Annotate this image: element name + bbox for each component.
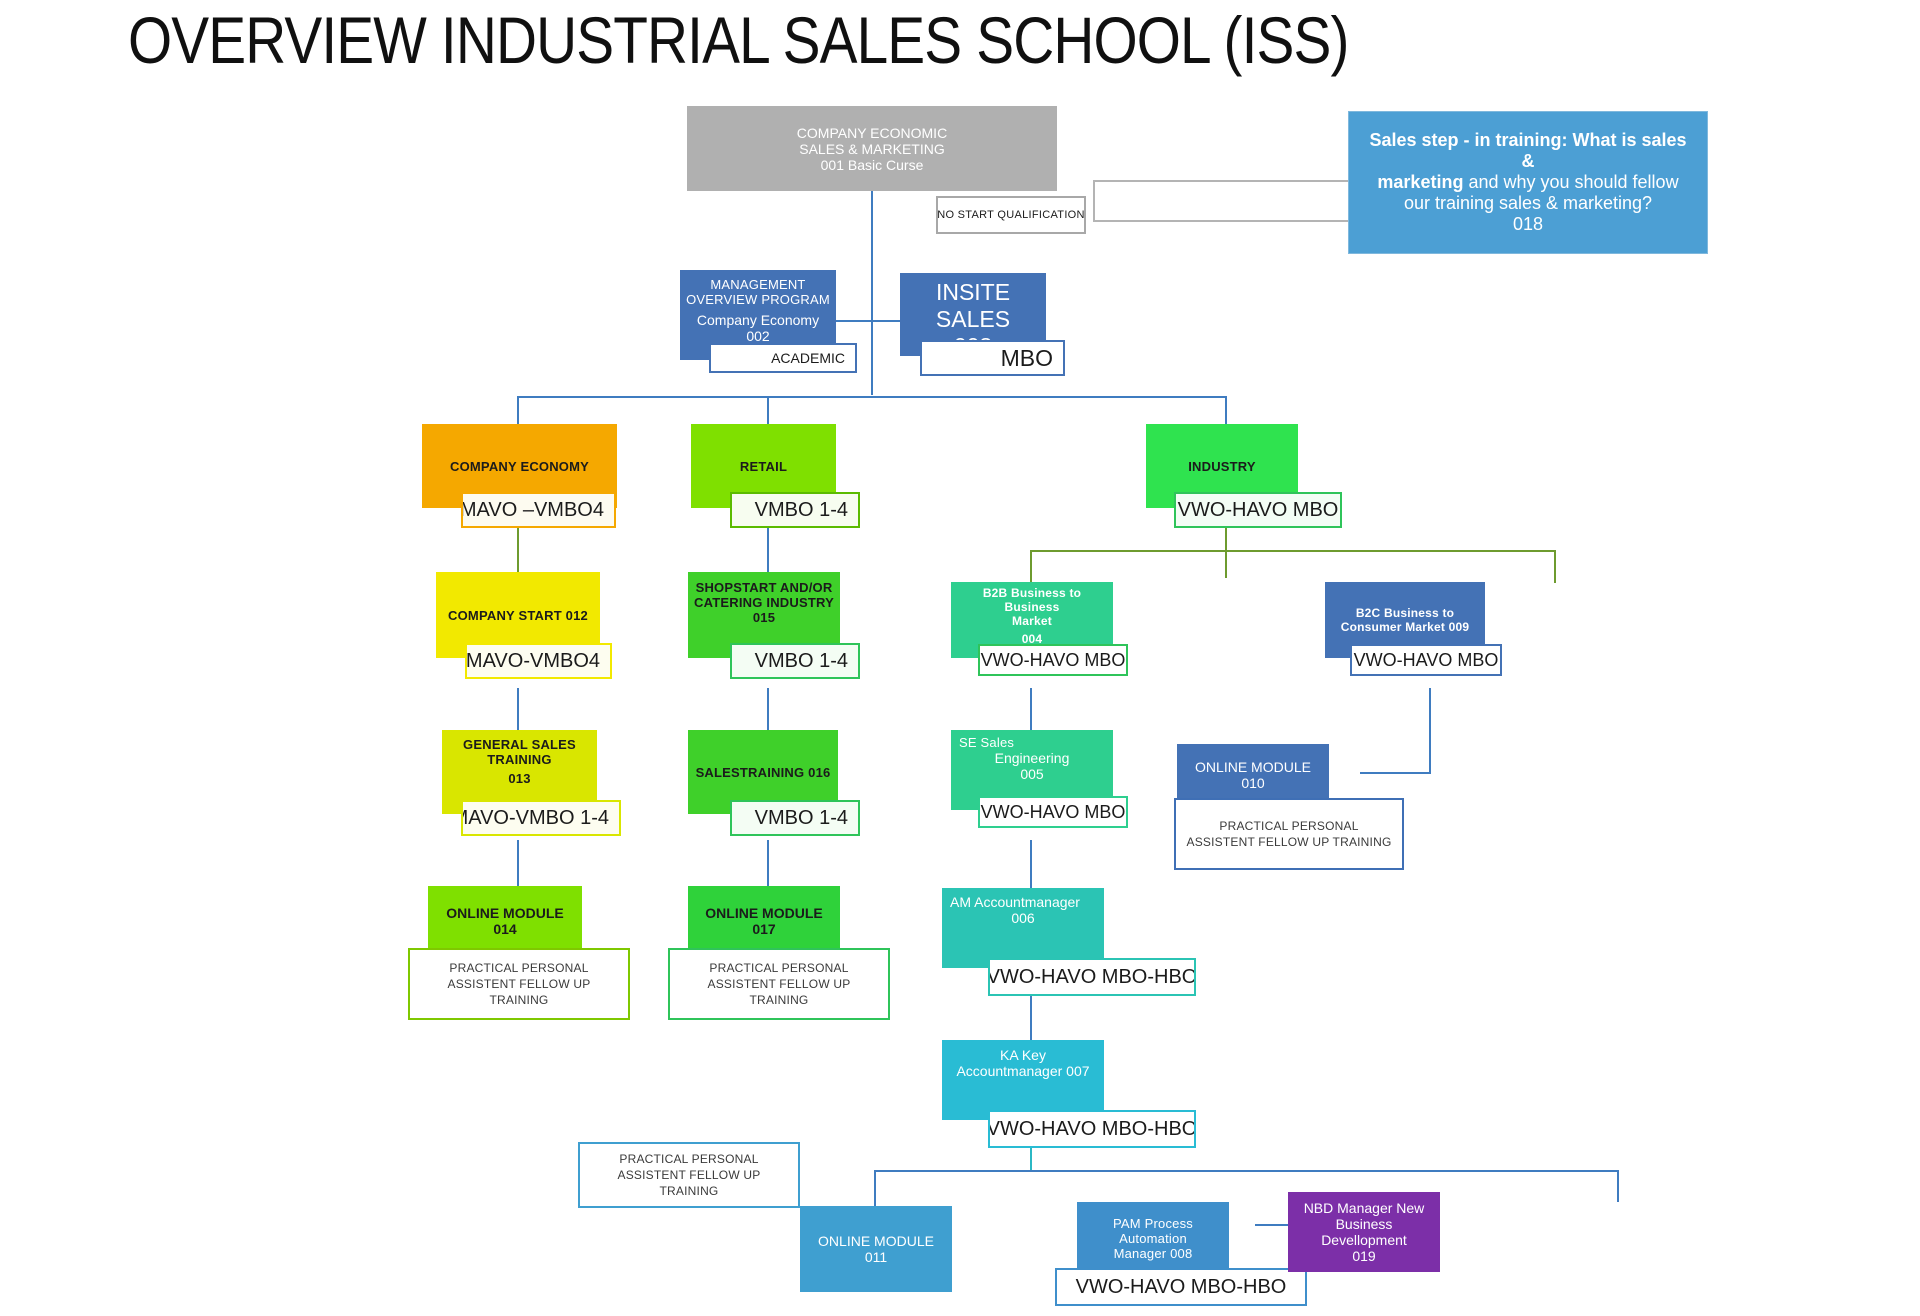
connector-bus-to-pam <box>1617 1170 1619 1202</box>
connector-level3-retail <box>767 396 769 424</box>
node-online-module-011[interactable]: ONLINE MODULE 011 <box>800 1206 952 1292</box>
connector-level3-company-economy <box>517 396 519 424</box>
insite-line1: INSITE SALES <box>906 279 1040 333</box>
connector-pam-to-nbd <box>1255 1224 1290 1226</box>
b2b-line1: B2B Business to Business <box>957 586 1107 614</box>
connector-level3-industry <box>1225 396 1227 424</box>
node-am-accountmanager[interactable]: AM Accountmanager 006 <box>942 888 1104 968</box>
caption-company-start[interactable]: MAVO-VMBO4 <box>465 643 612 679</box>
pam-line1: PAM Process Automation <box>1083 1216 1223 1246</box>
node-basic-curse-head: COMPANY ECONOMIC SALES & MARKETING 001 B… <box>687 106 1057 191</box>
caption-retail[interactable]: VMBO 1-4 <box>730 492 860 528</box>
connector-se-down <box>1030 840 1032 888</box>
caption-am-accountmanager[interactable]: VWO-HAVO MBO-HBO <box>988 958 1196 996</box>
connector-industry-down <box>1225 528 1227 578</box>
node-om014-head: ONLINE MODULE 014 <box>428 886 582 956</box>
connector-bus-to-b2b <box>1030 550 1032 583</box>
gst-line3: 013 <box>448 771 591 786</box>
node-ka-accountmanager[interactable]: KA Key Accountmanager 007 <box>942 1040 1104 1120</box>
connector-bus-to-om011 <box>874 1170 876 1206</box>
caption-mbo[interactable]: MBO <box>920 340 1065 376</box>
se-line1: SE Sales <box>959 735 1105 750</box>
caption-ka-accountmanager[interactable]: VWO-HAVO MBO-HBO <box>988 1110 1196 1148</box>
node-am-head: AM Accountmanager 006 <box>942 888 1104 968</box>
om011-line1: ONLINE MODULE 011 <box>806 1233 946 1265</box>
connector-general-sales-down <box>517 840 519 886</box>
connector-b2c-to-om010 <box>1360 772 1430 774</box>
st-line1: SALESTRAINING 016 <box>694 765 832 780</box>
management-line1: MANAGEMENT <box>686 277 830 292</box>
node-nbd-manager[interactable]: NBD Manager New Business Devellopment 01… <box>1288 1192 1440 1272</box>
caption-company-economy[interactable]: MAVO –VMBO4 <box>461 492 616 528</box>
connector-spacer-box <box>1093 180 1350 222</box>
company-economy-line1: COMPANY ECONOMY <box>428 459 611 474</box>
om010-line1: ONLINE MODULE 010 <box>1183 759 1323 791</box>
gst-line1: GENERAL SALES <box>448 737 591 752</box>
basic-line1: COMPANY ECONOMIC <box>693 125 1051 141</box>
pam-line2: Manager 008 <box>1083 1246 1223 1261</box>
shopstart-line1: SHOPSTART AND/OR <box>694 580 834 595</box>
nbd-line1: NBD Manager New <box>1294 1200 1434 1216</box>
caption-b2b[interactable]: VWO-HAVO MBO <box>978 644 1128 676</box>
b2b-line2: Market <box>957 614 1107 628</box>
caption-industry[interactable]: VWO-HAVO MBO <box>1174 492 1342 528</box>
node-sales-step-head: Sales step - in training: What is sales … <box>1349 112 1707 253</box>
shopstart-line3: 015 <box>694 610 834 625</box>
node-pam-head: PAM Process Automation Manager 008 <box>1077 1202 1229 1274</box>
connector-b2b-down <box>1030 688 1032 733</box>
node-om017-head: ONLINE MODULE 017 <box>688 886 840 956</box>
se-line3: 005 <box>959 766 1105 782</box>
caption-b2c[interactable]: VWO-HAVO MBO <box>1350 644 1502 676</box>
page-title: OVERVIEW INDUSTRIAL SALES SCHOOL (ISS) <box>128 4 1349 76</box>
connector-ka-down <box>1030 1144 1032 1172</box>
sales-step-line2-rest: and why you should fellow <box>1463 172 1678 192</box>
se-line2: Engineering <box>959 750 1105 766</box>
caption-sales-training[interactable]: VMBO 1-4 <box>730 800 860 836</box>
connector-company-start-down <box>517 688 519 730</box>
caption-pam[interactable]: VWO-HAVO MBO-HBO <box>1055 1268 1307 1306</box>
company-start-line1: COMPANY START 012 <box>442 608 594 623</box>
connector-trunk-mid <box>871 275 873 395</box>
basic-line2: SALES & MARKETING <box>693 141 1051 157</box>
connector-retail-down <box>767 528 769 572</box>
management-line3: Company Economy 002 <box>686 312 830 344</box>
om017-line1: ONLINE MODULE <box>694 905 834 921</box>
note-bottom-left: PRACTICAL PERSONAL ASSISTENT FELLOW UP T… <box>578 1142 800 1208</box>
sales-step-line3: our training sales & marketing? <box>1363 193 1693 214</box>
connector-basic-to-insite <box>871 320 901 322</box>
management-line2: OVERVIEW PROGRAM <box>686 292 830 307</box>
node-basic-curse[interactable]: COMPANY ECONOMIC SALES & MARKETING 001 B… <box>687 106 1057 191</box>
note-online-module-014: PRACTICAL PERSONAL ASSISTENT FELLOW UP T… <box>408 948 630 1020</box>
node-online-module-010[interactable]: ONLINE MODULE 010 <box>1177 744 1329 806</box>
node-online-module-017[interactable]: ONLINE MODULE 017 <box>688 886 840 956</box>
sales-step-line2-bold: marketing <box>1377 172 1463 192</box>
caption-no-start-qualification[interactable]: NO START QUALIFICATION <box>936 196 1086 234</box>
note-online-module-017: PRACTICAL PERSONAL ASSISTENT FELLOW UP T… <box>668 948 890 1020</box>
caption-general-sales-training[interactable]: MAVO-VMBO 1-4 <box>461 800 621 836</box>
basic-line3: 001 Basic Curse <box>693 157 1051 173</box>
connector-company-economy-down <box>517 528 519 572</box>
am-line2: 006 <box>950 910 1096 926</box>
shopstart-line2: CATERING INDUSTRY <box>694 595 834 610</box>
om017-line2: 017 <box>694 921 834 937</box>
connector-shopstart-down <box>767 688 769 730</box>
b2c-line2: Consumer Market 009 <box>1331 620 1479 634</box>
caption-se-sales[interactable]: VWO-HAVO MBO <box>978 796 1128 828</box>
industry-line1: INDUSTRY <box>1152 459 1292 474</box>
om014-line1: ONLINE MODULE <box>434 905 576 921</box>
connector-b2c-down <box>1429 688 1431 774</box>
caption-shopstart[interactable]: VMBO 1-4 <box>730 643 860 679</box>
connector-bus-to-b2c <box>1554 550 1556 583</box>
connector-bottom-bus <box>874 1170 1618 1172</box>
nbd-line2: Business Devellopment <box>1294 1216 1434 1248</box>
node-sales-step[interactable]: Sales step - in training: What is sales … <box>1348 111 1708 254</box>
caption-academic[interactable]: ACADEMIC <box>709 343 857 373</box>
am-line1: AM Accountmanager <box>950 894 1096 910</box>
node-om011-head: ONLINE MODULE 011 <box>800 1206 952 1292</box>
node-nbd-head: NBD Manager New Business Devellopment 01… <box>1288 1192 1440 1272</box>
sales-step-line1: Sales step - in training: What is sales … <box>1363 130 1693 172</box>
connector-level3-bus <box>517 396 1225 398</box>
ka-line2: Accountmanager 007 <box>948 1063 1098 1079</box>
retail-line1: RETAIL <box>697 459 830 474</box>
node-pam[interactable]: PAM Process Automation Manager 008 <box>1077 1202 1229 1274</box>
connector-salestraining-down <box>767 840 769 886</box>
node-ka-head: KA Key Accountmanager 007 <box>942 1040 1104 1120</box>
connector-industry-bus <box>1030 550 1555 552</box>
nbd-line3: 019 <box>1294 1248 1434 1264</box>
node-online-module-014[interactable]: ONLINE MODULE 014 <box>428 886 582 956</box>
b2c-line1: B2C Business to <box>1331 606 1479 620</box>
ka-line1: KA Key <box>948 1047 1098 1063</box>
sales-step-line4: 018 <box>1363 214 1693 235</box>
node-om010-head: ONLINE MODULE 010 <box>1177 744 1329 806</box>
om014-line2: 014 <box>434 921 576 937</box>
diagram-canvas: OVERVIEW INDUSTRIAL SALES SCHOOL (ISS) <box>0 0 1920 1316</box>
note-online-module-010: PRACTICAL PERSONAL ASSISTENT FELLOW UP T… <box>1174 798 1404 870</box>
gst-line2: TRAINING <box>448 752 591 767</box>
sales-step-line2: marketing and why you should fellow <box>1363 172 1693 193</box>
